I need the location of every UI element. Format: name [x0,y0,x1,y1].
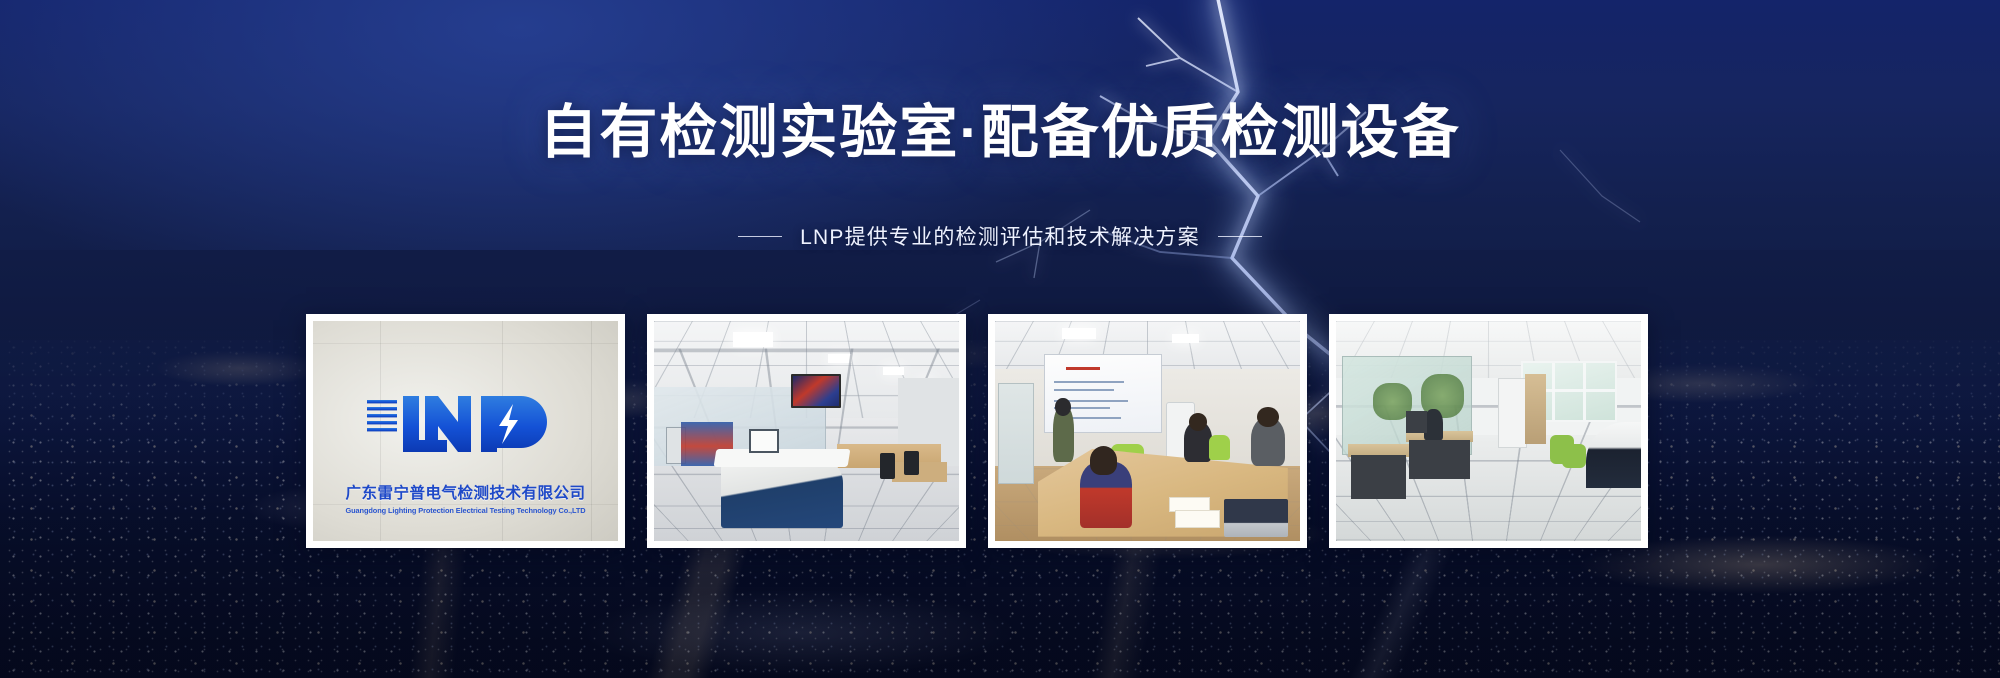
logo-company-name-zh: 广东雷宁普电气检测技术有限公司 [345,481,585,503]
hero-banner: 自有检测实验室·配备优质检测设备 LNP提供专业的检测评估和技术解决方案 [0,0,2000,678]
laptop-icon [1224,499,1288,536]
page-title: 自有检测实验室·配备优质检测设备 [539,100,1460,167]
gallery-photo-logo-wall: 广东雷宁普电气检测技术有限公司 Guangdong Lighting Prote… [313,321,618,541]
rule-right-icon [1218,236,1262,237]
page-subtitle: LNP提供专业的检测评估和技术解决方案 [800,221,1200,251]
rule-left-icon [738,236,782,237]
gallery-strip: 广东雷宁普电气检测技术有限公司 Guangdong Lighting Prote… [306,314,1648,548]
lnp-logo-icon [363,390,569,454]
headline-container: 自有检测实验室·配备优质检测设备 [0,100,2000,167]
logo-company-name-en: Guangdong Lighting Protection Electrical… [345,506,585,515]
gallery-card-3[interactable] [988,314,1307,548]
subtitle-container: LNP提供专业的检测评估和技术解决方案 [0,221,2000,251]
gallery-photo-office [1336,321,1641,541]
gallery-card-2[interactable] [647,314,966,548]
wall-monitor-icon [791,374,841,408]
gallery-card-4[interactable] [1329,314,1648,548]
gallery-photo-testing-lab [654,321,959,541]
gallery-card-1[interactable]: 广东雷宁普电气检测技术有限公司 Guangdong Lighting Prote… [306,314,625,548]
gallery-photo-meeting-room [995,321,1300,541]
